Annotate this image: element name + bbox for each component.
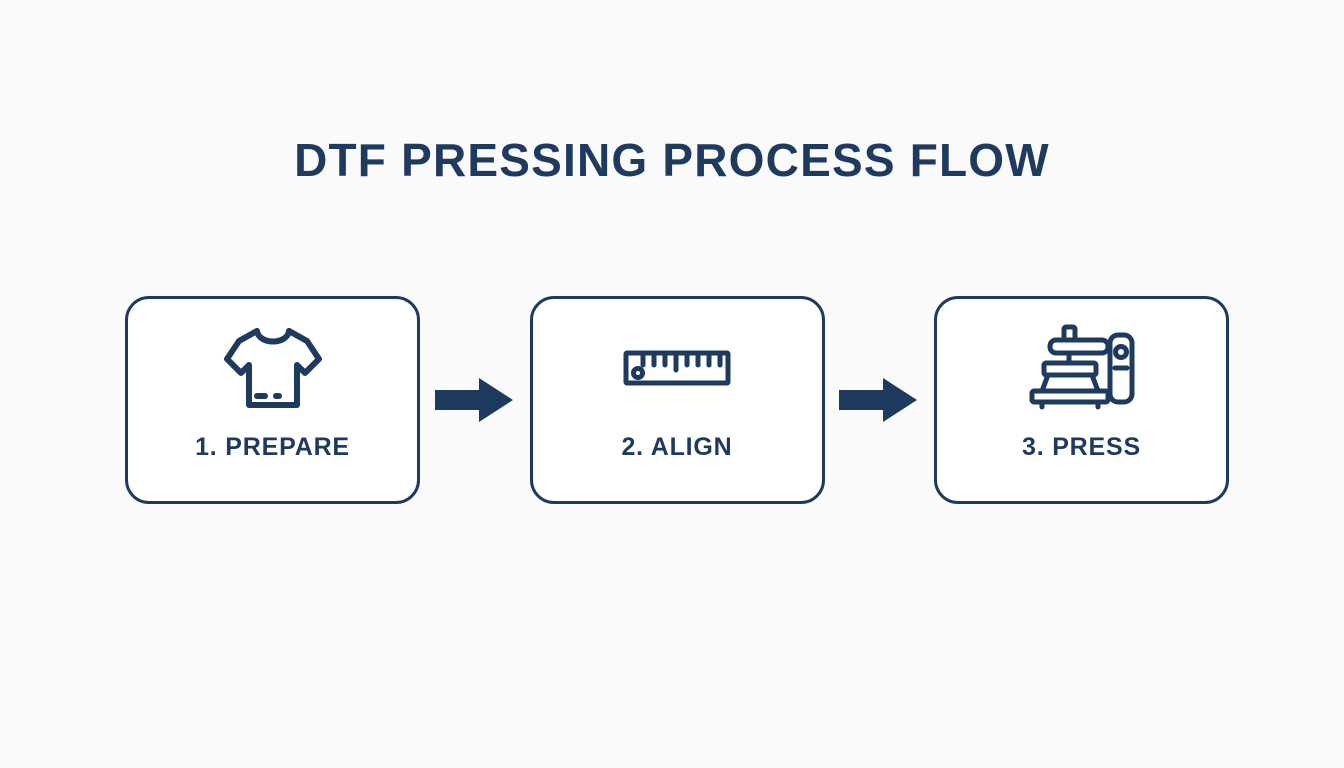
step-card-press[interactable]: 3. PRESS xyxy=(934,296,1229,504)
page-title: DTF PRESSING PROCESS FLOW xyxy=(0,133,1344,188)
step-card-align[interactable]: 2. ALIGN xyxy=(530,296,825,504)
heat-press-icon xyxy=(1026,307,1138,427)
ruler-icon xyxy=(621,307,733,427)
diagram-canvas: DTF PRESSING PROCESS FLOW 1. PREPARE xyxy=(0,0,1344,768)
step-label-prepare: 1. PREPARE xyxy=(195,433,350,462)
arrow-right-icon-1 xyxy=(433,374,517,426)
arrow-right-icon-2 xyxy=(837,374,921,426)
step-label-press: 3. PRESS xyxy=(1022,433,1141,462)
step-label-align: 2. ALIGN xyxy=(621,433,732,462)
step-card-prepare[interactable]: 1. PREPARE xyxy=(125,296,420,504)
process-flow-row: 1. PREPARE xyxy=(125,295,1229,505)
tshirt-icon xyxy=(221,307,325,427)
